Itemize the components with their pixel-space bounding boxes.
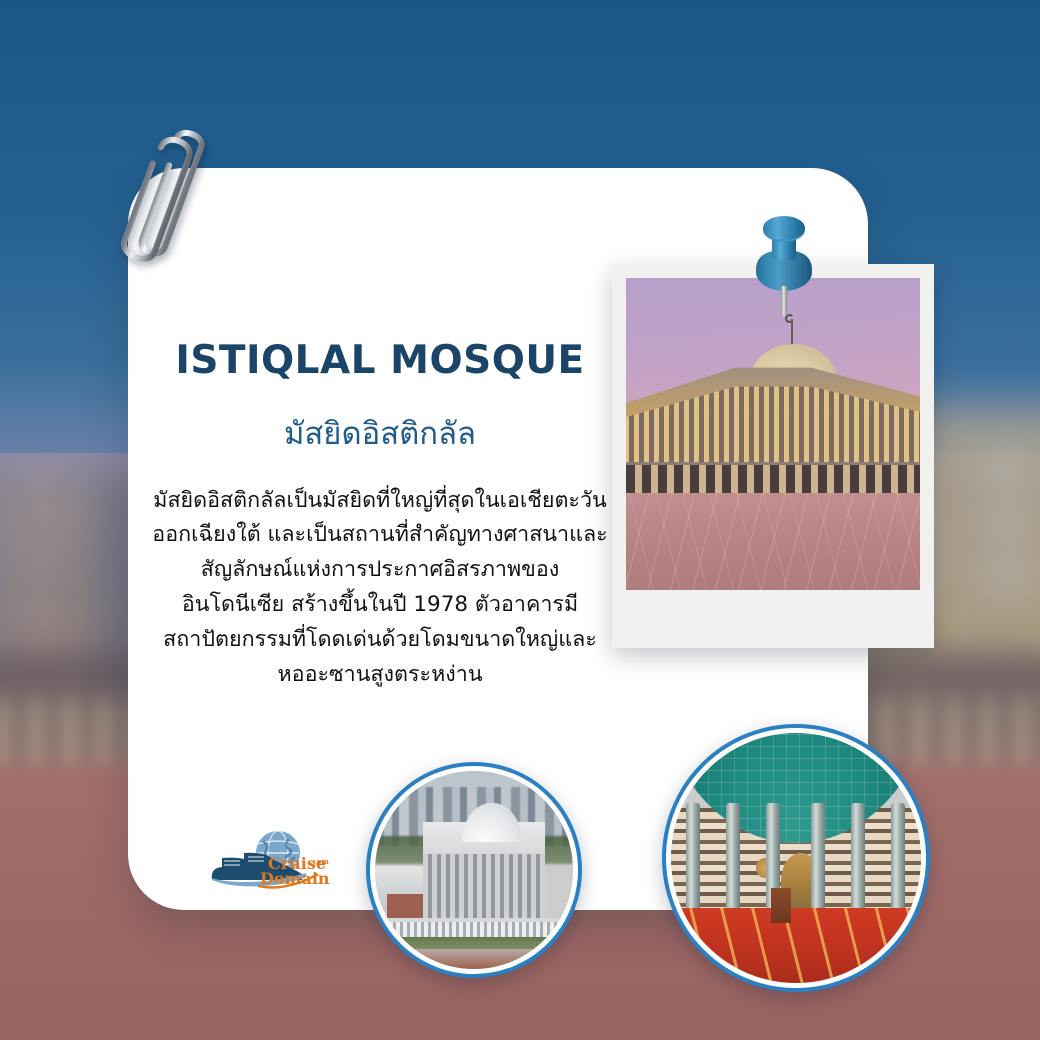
page-subtitle: มัสยิดอิสติกลัล (150, 415, 610, 454)
polaroid-photo-mosque-exterior (626, 278, 920, 590)
mimbar (771, 888, 791, 923)
pushpin-icon (738, 206, 830, 324)
logo-wordmark: Cruise Domain .com (258, 854, 330, 888)
paperclip-icon (100, 118, 232, 276)
cruise-domain-logo[interactable]: Cruise Domain .com (206, 828, 332, 898)
red-carpet (671, 908, 921, 983)
interior-mosque-photo (671, 733, 921, 983)
aerial-mosque-photo (375, 771, 573, 969)
circle-image-interior[interactable] (662, 724, 930, 992)
logo-tld: .com (310, 857, 329, 866)
circle-image-aerial[interactable] (366, 762, 582, 978)
card-text-column: ISTIQLAL MOSQUE มัสยิดอิสติกลัล มัสยิดอิ… (150, 340, 610, 693)
description-text: มัสยิดอิสติกลัลเป็นมัสยิดที่ใหญ่ที่สุดใน… (150, 484, 610, 693)
poster-canvas: ISTIQLAL MOSQUE มัสยิดอิสติกลัล มัสยิดอิ… (0, 0, 1040, 1040)
page-title: ISTIQLAL MOSQUE (150, 340, 610, 383)
